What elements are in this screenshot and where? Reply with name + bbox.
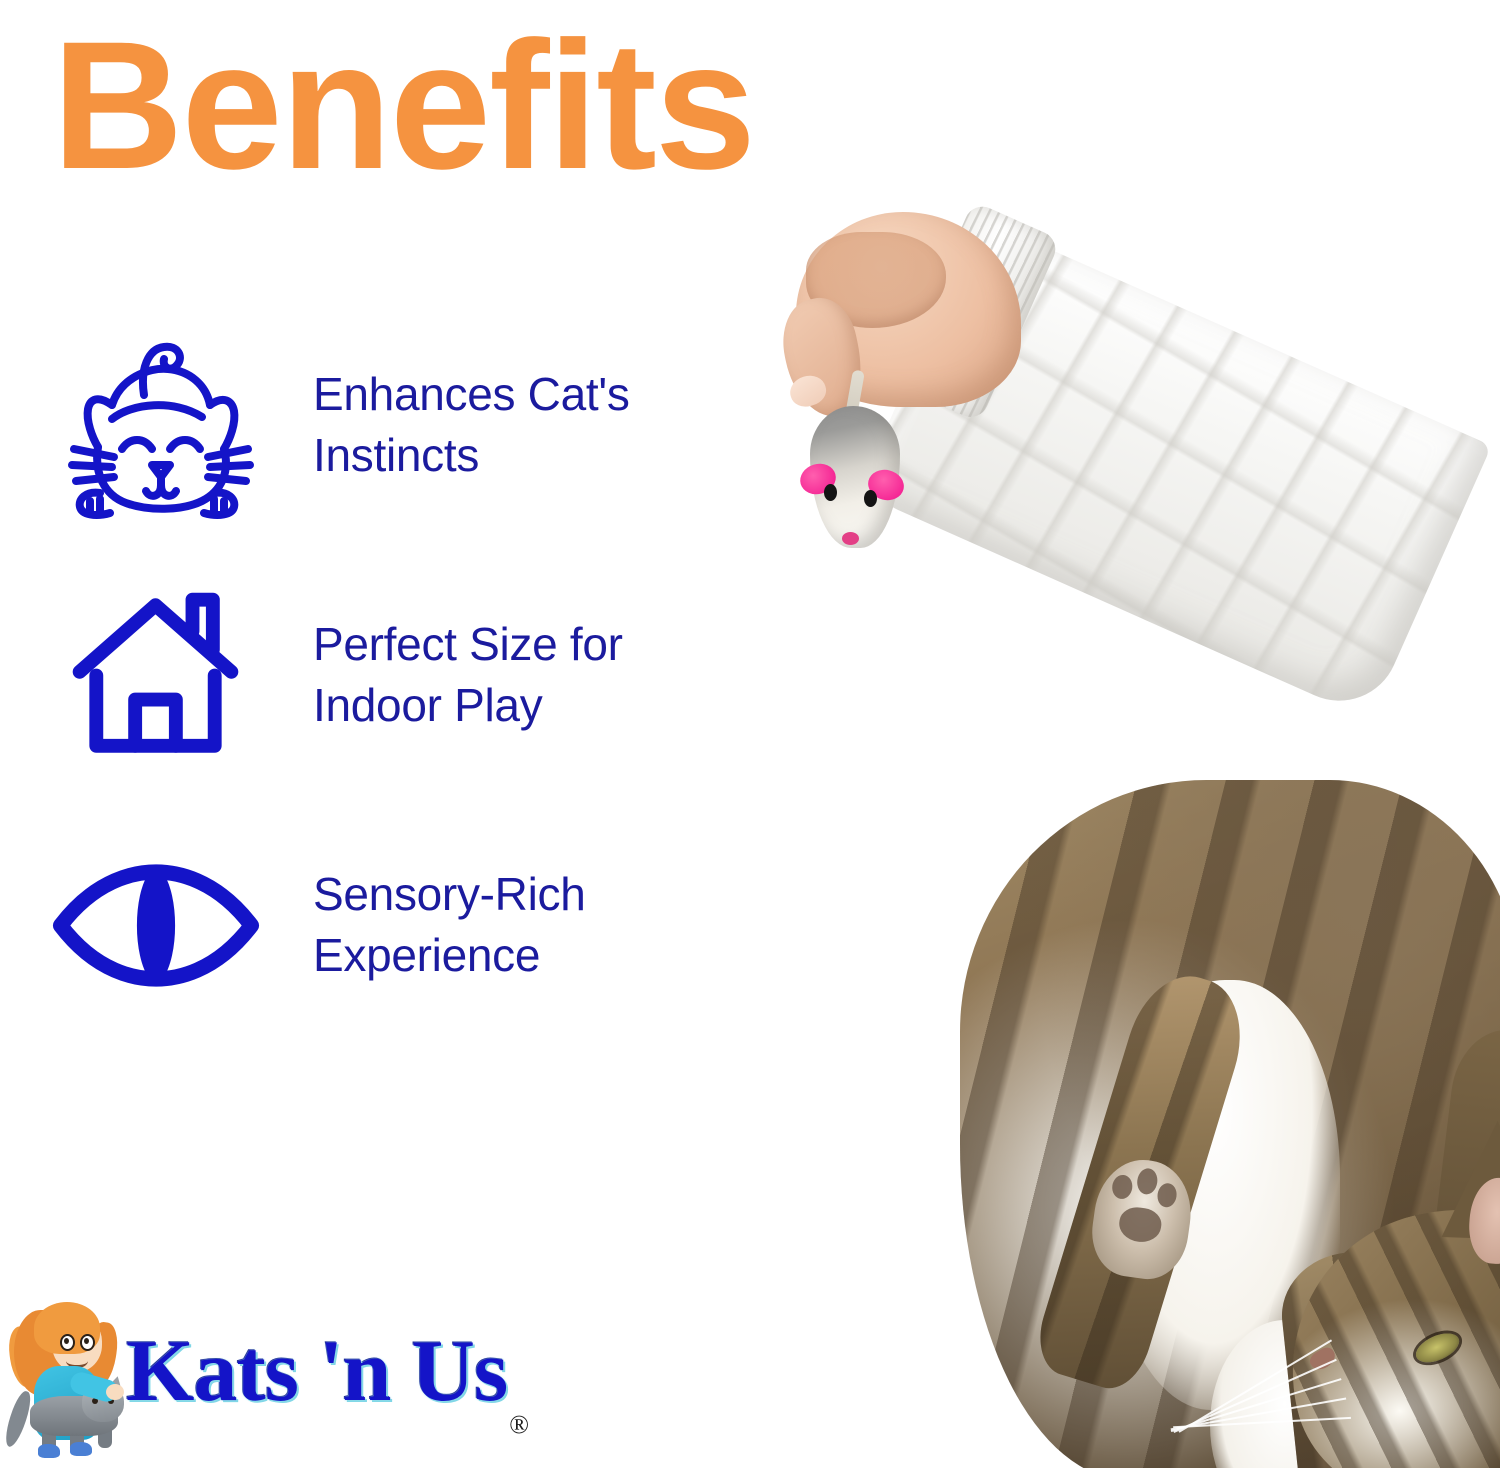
benefit-text: Perfect Size for Indoor Play	[263, 614, 623, 735]
benefit-text: Enhances Cat's Instincts	[263, 364, 630, 485]
product-photo	[760, 180, 1500, 1468]
mouse-eye-left	[824, 484, 837, 501]
logo-girl-shoe-left	[38, 1444, 60, 1458]
eye-icon	[48, 818, 263, 1033]
cat-face-icon	[48, 318, 263, 533]
benefit-line-1: Enhances Cat's	[313, 364, 630, 425]
paw-toe-pad-2	[1136, 1167, 1159, 1196]
benefit-line-1: Perfect Size for	[313, 614, 623, 675]
benefit-item-sensory-rich: Sensory-Rich Experience	[48, 800, 768, 1050]
logo-girl-pupil-left	[64, 1338, 69, 1344]
benefit-line-2: Indoor Play	[313, 675, 623, 736]
benefits-infographic: Benefits	[0, 0, 1500, 1468]
page-title: Benefits	[52, 14, 754, 196]
logo-girl-shoe-right	[70, 1442, 92, 1456]
paw-toe-pad-3	[1156, 1182, 1178, 1208]
paw-toe-pad-1	[1111, 1174, 1134, 1201]
benefit-line-2: Instincts	[313, 425, 630, 486]
cat-body	[960, 780, 1500, 1468]
benefits-list: Enhances Cat's Instincts Perfect S	[48, 300, 768, 1050]
logo-girl-with-cat-icon	[8, 1292, 120, 1452]
mouse-nose	[842, 532, 859, 545]
benefit-item-indoor-play: Perfect Size for Indoor Play	[48, 550, 768, 800]
toy-mouse	[802, 392, 906, 550]
paw-pad-main	[1117, 1205, 1163, 1245]
mouse-eye-right	[864, 490, 877, 507]
benefit-text: Sensory-Rich Experience	[263, 864, 586, 985]
benefit-line-2: Experience	[313, 925, 586, 986]
benefit-item-enhances-instincts: Enhances Cat's Instincts	[48, 300, 768, 550]
brand-name: Kats 'n Us	[120, 1328, 507, 1416]
house-icon	[48, 568, 263, 783]
benefit-line-1: Sensory-Rich	[313, 864, 586, 925]
registered-trademark-symbol: ®	[507, 1410, 529, 1452]
brand-logo: Kats 'n Us ®	[8, 1292, 529, 1452]
logo-girl-pupil-right	[84, 1338, 89, 1344]
